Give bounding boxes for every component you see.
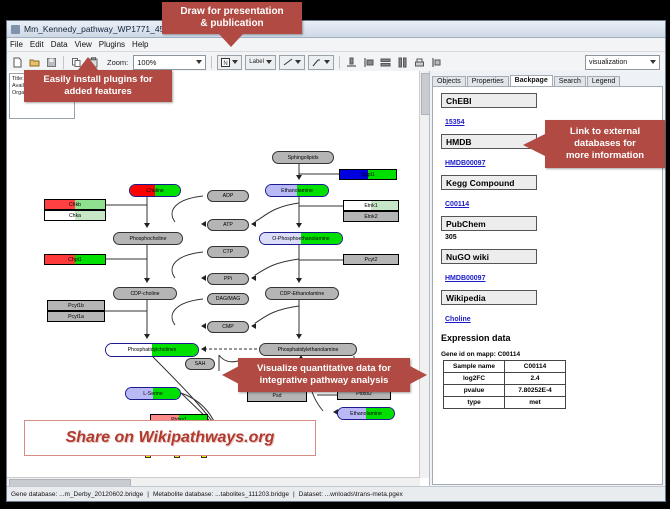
node-phosphatidylethanolamine[interactable]: Phosphatidylethanolamine: [259, 343, 357, 356]
cell-value: 7.80252E-4: [505, 385, 566, 397]
callout-plugins-line2: added features: [64, 86, 132, 98]
new-file-icon[interactable]: [10, 55, 24, 69]
node-label: CTP: [223, 249, 233, 255]
toolbar-separator-3: [339, 56, 340, 69]
menu-item-file[interactable]: File: [10, 40, 23, 49]
callout-share: Share on Wikipathways.org: [24, 420, 316, 456]
section-header-kegg: Kegg Compound: [441, 175, 537, 190]
callout-plugins-line1: Easily install plugins for: [43, 74, 152, 86]
gene-id-on-mapp: Gene id on mapp: C00114: [441, 351, 662, 358]
node-label: Etnk1: [364, 203, 377, 209]
table-row: type met: [444, 397, 566, 409]
node-label: Pcyt1b: [68, 303, 84, 309]
node-ppi[interactable]: PPi: [207, 273, 249, 285]
callout-plugins: Easily install plugins for added feature…: [24, 70, 172, 102]
node-phosphatidylcholines[interactable]: Phosphatidylcholines: [105, 343, 199, 357]
node-gene-pcyt1b[interactable]: Pcyt1b: [47, 300, 105, 311]
edge-arrow: [201, 221, 206, 227]
node-choline-top[interactable]: Choline: [129, 184, 181, 197]
node-label: Etnk2: [364, 214, 377, 220]
line-dropdown[interactable]: [279, 55, 305, 70]
table-row: log2FC 2.4: [444, 373, 566, 385]
link-kegg[interactable]: C00114: [445, 201, 469, 208]
callout-visualize-arrow-left: [222, 366, 239, 384]
menu-item-plugins[interactable]: Plugins: [99, 40, 125, 49]
callout-link-line1: Link to external: [570, 126, 640, 138]
node-gene-chka[interactable]: Chka: [44, 210, 106, 221]
section-header-wikipedia: Wikipedia: [441, 290, 537, 305]
edge-arrow: [251, 323, 256, 329]
node-cdp-ethanolamine[interactable]: CDP-Ethanolamine: [265, 287, 339, 300]
node-label: Chkb: [69, 202, 81, 208]
callout-draw-line1: Draw for presentation: [180, 6, 283, 18]
section-header-nugo-wiki: NuGO wiki: [441, 249, 537, 264]
visualization-value: visualization: [589, 59, 627, 66]
edge-arrow: [296, 278, 302, 283]
edge-arrow: [144, 278, 150, 283]
table-row: pvalue 7.80252E-4: [444, 385, 566, 397]
callout-link-line2: databases for: [574, 138, 636, 150]
edge-arrow: [251, 275, 256, 281]
cell-key: pvalue: [444, 385, 505, 397]
section-header-pubchem: PubChem: [441, 216, 537, 231]
node-label: Sgpl1: [361, 172, 374, 178]
callout-visualize-line1: Visualize quantitative data for: [257, 363, 391, 375]
node-atp[interactable]: ATP: [207, 219, 249, 231]
callout-draw: Draw for presentation & publication: [162, 2, 302, 34]
zoom-combobox[interactable]: 100%: [133, 55, 206, 70]
node-l-serine-left[interactable]: L-Serine: [125, 387, 181, 400]
toolbar-separator: [63, 56, 64, 69]
menu-item-data[interactable]: Data: [51, 40, 68, 49]
align-bottom-icon[interactable]: [345, 55, 359, 69]
chevron-down-icon: [650, 60, 656, 64]
chevron-down-icon: [266, 60, 272, 64]
node-label: ADP: [223, 193, 234, 199]
edge-arrow: [251, 221, 256, 227]
distribute-vertical-icon[interactable]: [379, 55, 393, 69]
edge-arrow: [296, 223, 302, 228]
callout-visualize: Visualize quantitative data for integrat…: [238, 358, 410, 392]
label-dropdown-text: Label: [249, 59, 264, 65]
link-hmdb[interactable]: HMDB00097: [445, 160, 485, 167]
node-ctp[interactable]: CTP: [207, 246, 249, 258]
order-icon[interactable]: [430, 55, 444, 69]
node-label: CMP: [222, 324, 234, 330]
node-label: Phosphatidylcholines: [128, 347, 177, 353]
callout-draw-line2: & publication: [200, 18, 263, 30]
node-adp[interactable]: ADP: [207, 190, 249, 202]
edge-arrow: [296, 175, 302, 180]
node-gene-sgpl1[interactable]: Sgpl1: [339, 169, 397, 180]
node-sphingolipids[interactable]: Sphingolipids: [272, 151, 334, 164]
node-ethanolamine-top[interactable]: Ethanolamine: [265, 184, 329, 197]
node-label: Chka: [69, 213, 81, 219]
edge-arrow: [201, 275, 206, 281]
node-cdp-choline[interactable]: CDP-choline: [113, 287, 177, 300]
node-gene-pcyt2[interactable]: Pcyt2: [343, 254, 399, 265]
chevron-down-icon: [232, 60, 238, 64]
status-dataset: Dataset: ...wnloads\trans-meta.pgex: [299, 491, 403, 498]
node-gene-chkb[interactable]: Chkb: [44, 199, 106, 210]
link-chebi[interactable]: 15354: [445, 119, 464, 126]
title-bar: Mm_Kennedy_pathway_WP1771_45176.gpml: [7, 21, 665, 38]
edge-arrow: [296, 334, 302, 339]
node-label: SAH: [195, 361, 206, 367]
node-label: CDP-Ethanolamine: [280, 291, 324, 297]
cell-value: 2.4: [505, 373, 566, 385]
expression-data-title: Expression data: [441, 333, 662, 343]
menu-item-help[interactable]: Help: [132, 40, 148, 49]
status-gene-database: Gene database: ...m_Derby_20120602.bridg…: [11, 491, 143, 498]
callout-plugins-stem: [84, 66, 92, 74]
callout-visualize-arrow-right: [410, 366, 427, 384]
callout-visualize-line2: integrative pathway analysis: [260, 375, 389, 387]
callout-link-stem: [540, 138, 548, 152]
status-separator: |: [147, 491, 149, 498]
visualization-combobox[interactable]: visualization: [585, 55, 660, 70]
menu-item-edit[interactable]: Edit: [30, 40, 44, 49]
label-dropdown[interactable]: Label: [245, 55, 276, 70]
chevron-down-icon: [324, 60, 330, 64]
edge-arrow: [201, 323, 206, 329]
node-cmp[interactable]: CMP: [207, 321, 249, 333]
status-separator-2: |: [293, 491, 295, 498]
tab-properties[interactable]: Properties: [467, 76, 509, 86]
node-ethanolamine-right[interactable]: Ethanolamine: [337, 407, 395, 420]
side-panel-tabs: Objects Properties Backpage Search Legen…: [432, 73, 663, 87]
node-label: Chpt1: [68, 257, 82, 263]
node-label: Ethanolamine: [281, 188, 313, 194]
chevron-down-icon: [295, 60, 301, 64]
node-label: Sphingolipids: [288, 155, 319, 161]
node-label: Pcyt2: [365, 257, 378, 263]
cell-value: C00114: [505, 361, 566, 373]
node-label: Phosphatidylethanolamine: [278, 347, 339, 353]
distribute-horizontal-icon[interactable]: [396, 55, 410, 69]
toolbar-separator-2: [211, 56, 212, 69]
align-left-icon[interactable]: [362, 55, 376, 69]
node-label: L-Serine: [143, 391, 163, 397]
node-label: CDP-choline: [130, 291, 159, 297]
status-metabolite-database: Metabolite database: ...tabolites_111203…: [153, 491, 289, 498]
menu-bar: File Edit Data View Plugins Help: [7, 38, 665, 52]
section-header-chebi: ChEBI: [441, 93, 537, 108]
node-label: DAG/MAG: [216, 296, 241, 302]
edge-arrow: [144, 334, 150, 339]
node-sah[interactable]: SAH: [185, 358, 215, 370]
datanode-dropdown[interactable]: N: [217, 55, 242, 70]
node-label: PPi: [224, 276, 232, 282]
node-label: Phosphocholine: [130, 236, 167, 242]
cell-key: type: [444, 397, 505, 409]
cell-value: met: [505, 397, 566, 409]
node-o-phosphoethanolamine[interactable]: O-Phosphoethanolamine: [259, 232, 343, 245]
node-label: Pcyt1a: [68, 314, 84, 320]
callout-link-line3: more information: [566, 150, 644, 162]
edge-arrow: [144, 223, 150, 228]
zoom-label: Zoom:: [107, 58, 128, 67]
callout-draw-arrow: [219, 34, 243, 47]
expression-table: Sample name C00114 log2FC 2.4 pvalue 7.8…: [443, 360, 566, 409]
node-dag-mag[interactable]: DAG/MAG: [207, 293, 249, 305]
node-label: O-Phosphoethanolamine: [272, 236, 329, 242]
tab-backpage[interactable]: Backpage: [510, 75, 553, 86]
node-label: Choline: [146, 188, 164, 194]
table-row: Sample name C00114: [444, 361, 566, 373]
node-phosphocholine[interactable]: Phosphocholine: [113, 232, 183, 245]
tab-objects[interactable]: Objects: [432, 76, 466, 86]
canvas-vertical-scrollbar[interactable]: [419, 71, 429, 478]
callout-link: Link to external databases for more info…: [545, 120, 665, 168]
node-label: Psd: [273, 393, 282, 399]
status-bar: Gene database: ...m_Derby_20120602.bridg…: [7, 486, 665, 501]
open-folder-icon[interactable]: [27, 55, 41, 69]
link-wikipedia[interactable]: Choline: [445, 316, 471, 323]
tab-search[interactable]: Search: [554, 76, 586, 86]
node-gene-pcyt1a[interactable]: Pcyt1a: [47, 311, 105, 322]
app-icon: [11, 25, 20, 34]
node-label: Ethanolamine: [350, 411, 382, 417]
node-gene-chpt1[interactable]: Chpt1: [44, 254, 106, 265]
svg-text:N: N: [224, 61, 228, 67]
callout-share-text: Share on Wikipathways.org: [66, 429, 275, 447]
node-gene-etnk2[interactable]: Etnk2: [343, 211, 399, 222]
zoom-value: 100%: [137, 58, 156, 67]
stack-icon[interactable]: [413, 55, 427, 69]
cell-key: Sample name: [444, 361, 505, 373]
menu-item-view[interactable]: View: [75, 40, 92, 49]
edge-arrow: [201, 346, 206, 352]
cell-key: log2FC: [444, 373, 505, 385]
screenshot-root: Mm_Kennedy_pathway_WP1771_45176.gpml Fil…: [0, 0, 670, 509]
value-pubchem: 305: [445, 234, 662, 241]
link-nugo-wiki[interactable]: HMDB00097: [445, 275, 485, 282]
chevron-down-icon: [196, 60, 202, 64]
node-gene-etnk1[interactable]: Etnk1: [343, 200, 399, 211]
node-label: ATP: [223, 222, 233, 228]
interaction-dropdown[interactable]: [308, 55, 334, 70]
save-icon[interactable]: [44, 55, 58, 69]
tab-legend[interactable]: Legend: [587, 76, 620, 86]
